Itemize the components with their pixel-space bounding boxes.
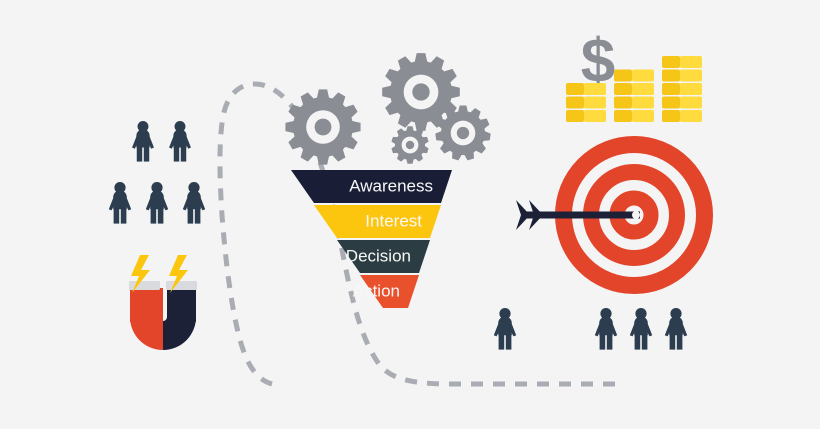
- funnel-label-interest: Interest: [365, 211, 422, 230]
- coin: [566, 110, 584, 122]
- coin: [662, 110, 680, 122]
- person-leg-left: [600, 334, 606, 349]
- person-torso: [634, 316, 648, 335]
- gear-large-right-hub: [412, 83, 429, 100]
- coin: [662, 56, 680, 68]
- funnel-label-awareness: Awareness: [349, 176, 433, 195]
- person-leg-right: [677, 334, 683, 349]
- funnel-label-action: Action: [353, 281, 400, 300]
- person-leg-right: [121, 208, 127, 223]
- funnel-label-decision: Decision: [346, 246, 411, 265]
- person-leg-left: [137, 147, 142, 162]
- coin: [680, 110, 702, 122]
- person-leg-left: [174, 147, 179, 162]
- coin: [614, 110, 632, 122]
- person-torso: [669, 316, 683, 335]
- person-leg-right: [195, 208, 201, 223]
- person-torso: [187, 190, 201, 209]
- coin: [566, 97, 584, 109]
- magnet-right-body: [167, 288, 196, 322]
- person-leg-right: [158, 208, 164, 223]
- coin: [680, 70, 702, 82]
- person-leg-left: [188, 208, 194, 223]
- infographic-svg: $ Awareness Interest Decision Action: [0, 0, 820, 429]
- person-leg-right: [181, 147, 186, 162]
- person-leg-right: [144, 147, 149, 162]
- magnet-tip-right: [166, 281, 197, 290]
- coin: [614, 97, 632, 109]
- coin: [614, 70, 632, 82]
- person-torso: [136, 129, 149, 147]
- coin: [632, 110, 654, 122]
- coin: [680, 83, 702, 95]
- arrow-tip-hole: [632, 211, 640, 219]
- person-torso: [173, 129, 186, 147]
- coin: [566, 83, 584, 95]
- coin: [584, 97, 606, 109]
- gear-large-left-hub: [315, 119, 332, 136]
- person-leg-left: [151, 208, 157, 223]
- coin: [632, 70, 654, 82]
- gear-medium-hub: [457, 127, 469, 139]
- person-torso: [150, 190, 164, 209]
- coin: [680, 56, 702, 68]
- person-leg-left: [114, 208, 120, 223]
- coin: [662, 97, 680, 109]
- person-torso: [599, 316, 613, 335]
- magnet-tip-left: [129, 281, 160, 290]
- coin: [680, 97, 702, 109]
- gear-small-hub: [406, 141, 414, 149]
- person-torso: [113, 190, 127, 209]
- coin: [614, 83, 632, 95]
- infographic-canvas: $ Awareness Interest Decision Action: [0, 0, 820, 429]
- person-leg-left: [635, 334, 641, 349]
- magnet-left-body: [130, 288, 163, 322]
- coin: [584, 110, 606, 122]
- coin: [584, 83, 606, 95]
- coin: [662, 70, 680, 82]
- coin: [632, 83, 654, 95]
- person-leg-left: [499, 334, 505, 349]
- person-torso: [498, 316, 512, 335]
- person-leg-right: [642, 334, 648, 349]
- coin: [632, 97, 654, 109]
- coin: [662, 83, 680, 95]
- person-leg-right: [506, 334, 512, 349]
- person-leg-right: [607, 334, 613, 349]
- person-leg-left: [670, 334, 676, 349]
